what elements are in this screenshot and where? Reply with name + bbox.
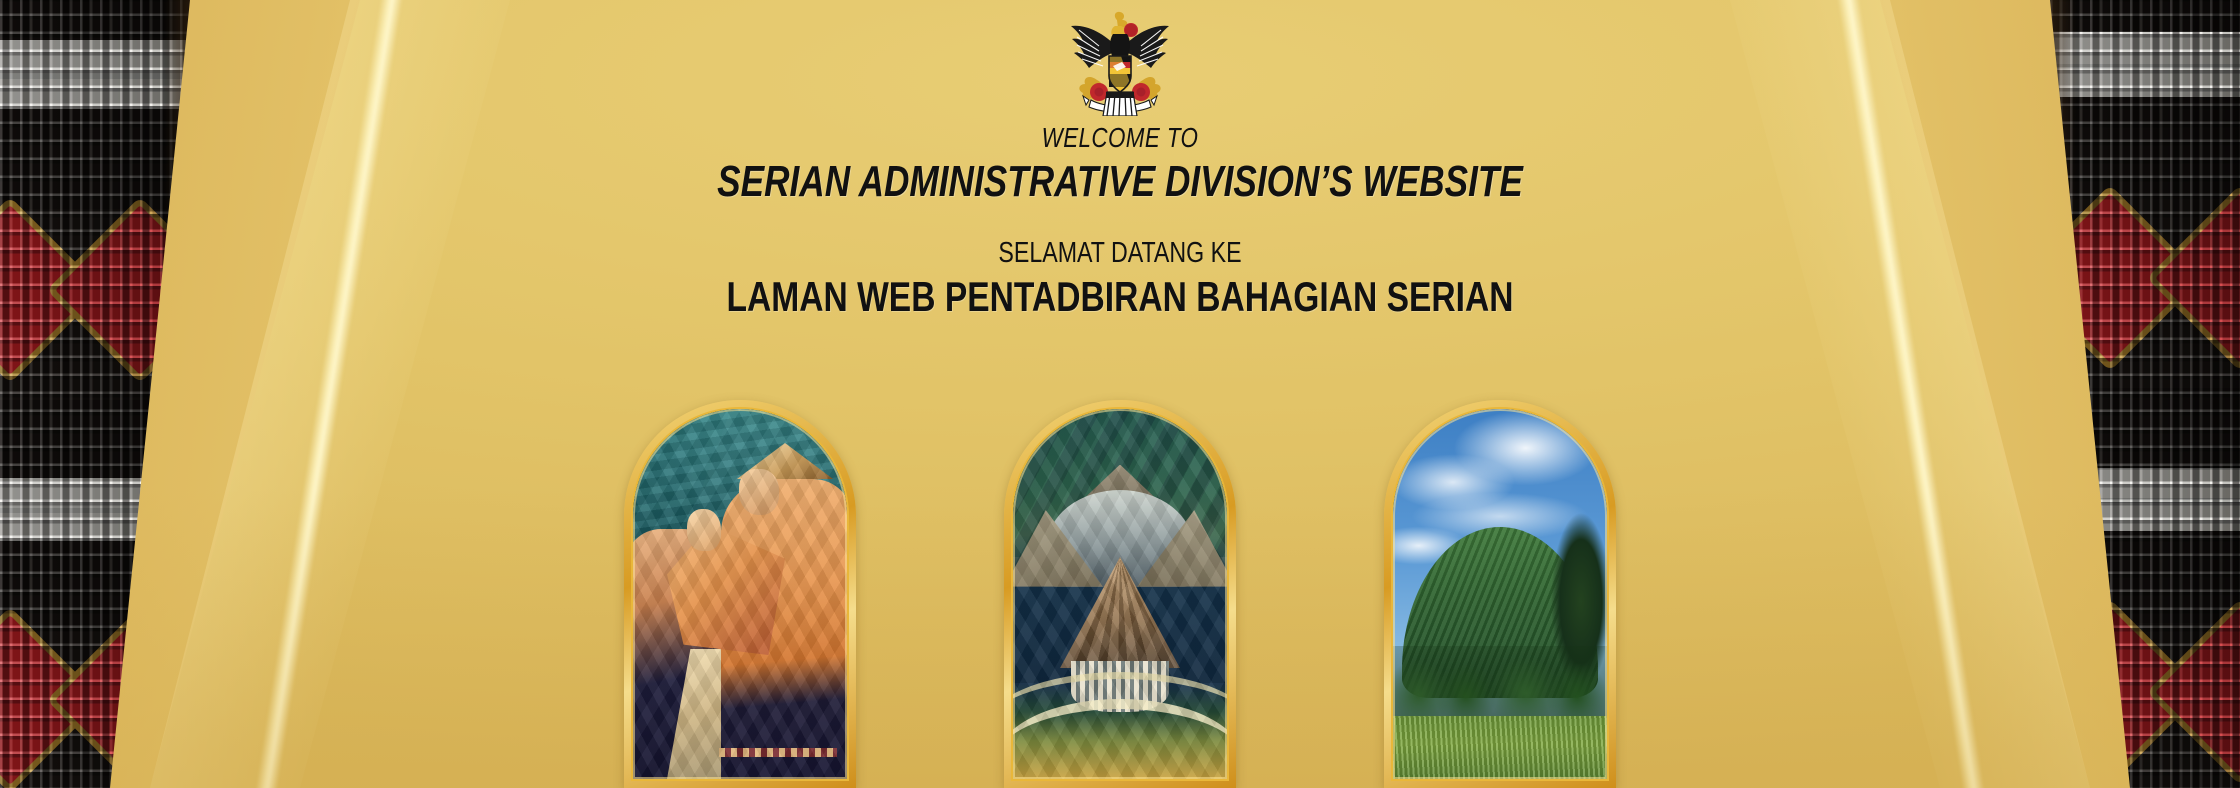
welcome-label-bm: SELAMAT DATANG KE (224, 237, 2016, 270)
page-title-en: SERIAN ADMINISTRATIVE DIVISION’S WEBSITE (224, 157, 2016, 207)
welcome-banner: WELCOME TO SERIAN ADMINISTRATIVE DIVISIO… (0, 0, 2240, 788)
arch-frame-inner-1 (631, 407, 849, 781)
image-forested-hill (1393, 409, 1607, 779)
banner-headings: WELCOME TO SERIAN ADMINISTRATIVE DIVISIO… (0, 112, 2240, 321)
arch-forested-hill[interactable] (1384, 400, 1616, 788)
arch-frame-inner-2 (1011, 407, 1229, 781)
sarawak-coat-of-arms-icon (1055, 4, 1185, 116)
image-traditional-dancers (633, 409, 847, 779)
image-administrative-building (1013, 409, 1227, 779)
arch-traditional-dancers[interactable] (624, 400, 856, 788)
welcome-label-en: WELCOME TO (224, 122, 2016, 154)
arch-frame-inner-3 (1391, 407, 1609, 781)
arched-image-gallery (0, 400, 2240, 788)
arch-administrative-building[interactable] (1004, 400, 1236, 788)
page-title-bm: LAMAN WEB PENTADBIRAN BAHAGIAN SERIAN (224, 273, 2016, 321)
